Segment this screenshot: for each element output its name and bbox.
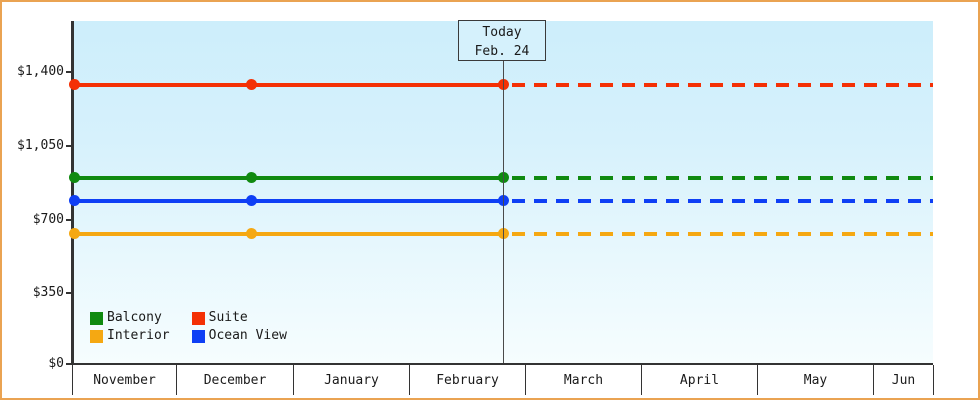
series-line-suite-dashed <box>512 83 933 87</box>
today-label-date: Feb. 24 <box>459 42 545 61</box>
y-tick-label-1400: $1,400 <box>17 65 64 78</box>
month-cell-jun[interactable]: Jun <box>874 365 934 395</box>
series-line-balcony-solid <box>74 176 506 180</box>
series-marker-ocean-view[interactable] <box>246 195 257 206</box>
legend-item-interior[interactable]: Interior <box>90 329 170 343</box>
legend-swatch-suite <box>192 312 205 325</box>
series-line-balcony-dashed <box>512 176 933 180</box>
y-tick-mark-1400 <box>66 71 74 73</box>
series-marker-suite[interactable] <box>69 79 80 90</box>
chart-frame: $1,400 $1,050 $700 $350 $0 Today Feb. 24… <box>0 0 980 400</box>
month-cell-december[interactable]: December <box>177 365 294 395</box>
y-tick-mark-1050 <box>66 145 74 147</box>
y-tick-mark-350 <box>66 292 74 294</box>
legend-label-balcony: Balcony <box>107 311 162 325</box>
today-label-title: Today <box>459 23 545 42</box>
month-cell-february[interactable]: February <box>410 365 526 395</box>
series-marker-ocean-view[interactable] <box>69 195 80 206</box>
y-tick-label-700: $700 <box>33 213 64 226</box>
legend-label-interior: Interior <box>107 329 170 343</box>
legend-swatch-interior <box>90 330 103 343</box>
series-marker-suite[interactable] <box>246 79 257 90</box>
today-vertical-line <box>503 21 504 363</box>
y-tick-label-0: $0 <box>48 357 64 370</box>
y-tick-mark-700 <box>66 219 74 221</box>
legend-item-ocean-view[interactable]: Ocean View <box>192 329 287 343</box>
legend-item-balcony[interactable]: Balcony <box>90 311 170 325</box>
month-cell-january[interactable]: January <box>294 365 410 395</box>
series-line-suite-solid <box>74 83 506 87</box>
legend-swatch-ocean-view <box>192 330 205 343</box>
legend-label-ocean-view: Ocean View <box>209 329 287 343</box>
legend-swatch-balcony <box>90 312 103 325</box>
series-line-ocean-view-dashed <box>512 199 933 203</box>
legend-label-suite: Suite <box>209 311 248 325</box>
legend-item-suite[interactable]: Suite <box>192 311 287 325</box>
series-marker-balcony[interactable] <box>246 172 257 183</box>
month-cell-march[interactable]: March <box>526 365 642 395</box>
series-marker-interior[interactable] <box>69 228 80 239</box>
legend: Balcony Suite Interior Ocean View <box>90 311 287 343</box>
month-axis: November December January February March… <box>72 365 934 395</box>
month-cell-april[interactable]: April <box>642 365 758 395</box>
series-line-interior-solid <box>74 232 506 236</box>
series-marker-interior[interactable] <box>246 228 257 239</box>
month-cell-may[interactable]: May <box>758 365 874 395</box>
y-tick-label-350: $350 <box>33 286 64 299</box>
series-line-interior-dashed <box>512 232 933 236</box>
today-label-box: Today Feb. 24 <box>458 20 546 61</box>
month-cell-november[interactable]: November <box>72 365 177 395</box>
series-line-ocean-view-solid <box>74 199 506 203</box>
series-marker-balcony[interactable] <box>69 172 80 183</box>
y-tick-label-1050: $1,050 <box>17 139 64 152</box>
